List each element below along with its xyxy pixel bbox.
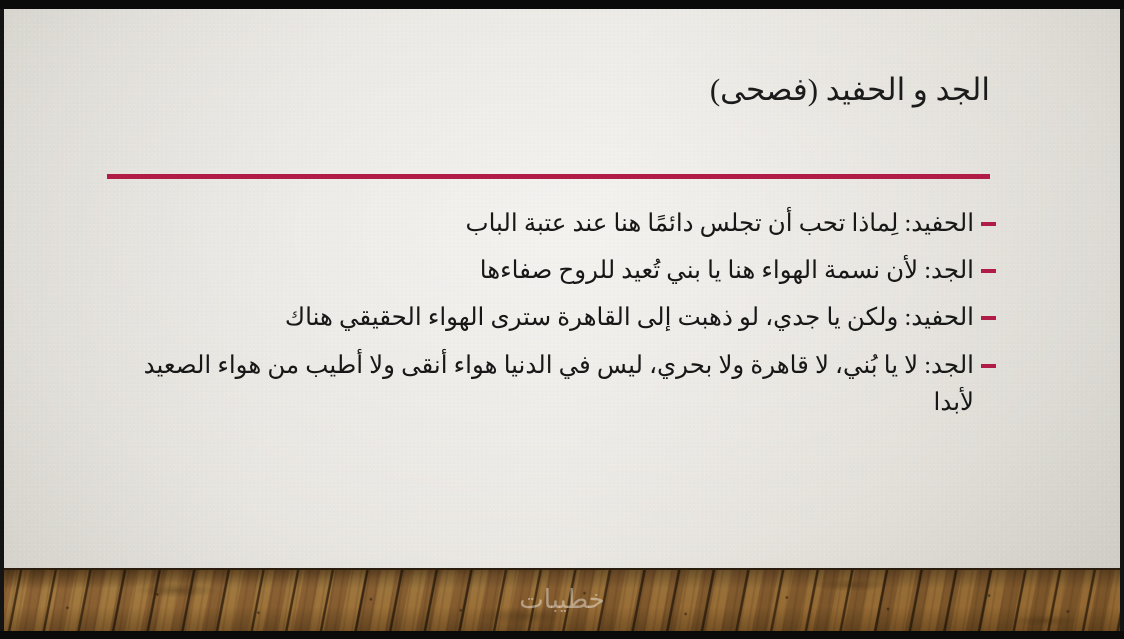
title-divider-rule (107, 174, 990, 179)
bottom-letterbox-bar (0, 631, 1124, 639)
top-letterbox-bar (0, 0, 1124, 9)
dash-bullet-icon (981, 269, 996, 273)
list-item: الحفيد: ولكن يا جدي، لو ذهبت إلى القاهرة… (112, 299, 996, 336)
wood-floor: خطيبات (0, 568, 1124, 631)
list-item-label: الحفيد: لِماذا تحب أن تجلس دائمًا هنا عن… (112, 205, 974, 242)
list-item: الجد: لأن نسمة الهواء هنا يا بني تُعيد ل… (112, 252, 996, 289)
list-item-label: الجد: لا يا بُني، لا قاهرة ولا بحري، ليس… (112, 347, 974, 421)
list-item-label: الحفيد: ولكن يا جدي، لو ذهبت إلى القاهرة… (112, 299, 974, 336)
presentation-slide: الجد و الحفيد (فصحى) الحفيد: لِماذا تحب … (0, 0, 1124, 639)
dialogue-bullet-list: الحفيد: لِماذا تحب أن تجلس دائمًا هنا عن… (112, 205, 996, 421)
list-item-label: الجد: لأن نسمة الهواء هنا يا بني تُعيد ل… (112, 252, 974, 289)
left-edge-border (0, 0, 4, 639)
dash-bullet-icon (981, 364, 996, 368)
right-edge-border (1120, 0, 1124, 639)
slide-content: الجد و الحفيد (فصحى) الحفيد: لِماذا تحب … (0, 9, 1124, 568)
list-item: الجد: لا يا بُني، لا قاهرة ولا بحري، ليس… (112, 347, 996, 421)
page-title: الجد و الحفيد (فصحى) (130, 71, 990, 110)
dash-bullet-icon (981, 316, 996, 320)
dash-bullet-icon (981, 222, 996, 226)
floor-shadow-overlay (0, 570, 1124, 631)
list-item: الحفيد: لِماذا تحب أن تجلس دائمًا هنا عن… (112, 205, 996, 242)
